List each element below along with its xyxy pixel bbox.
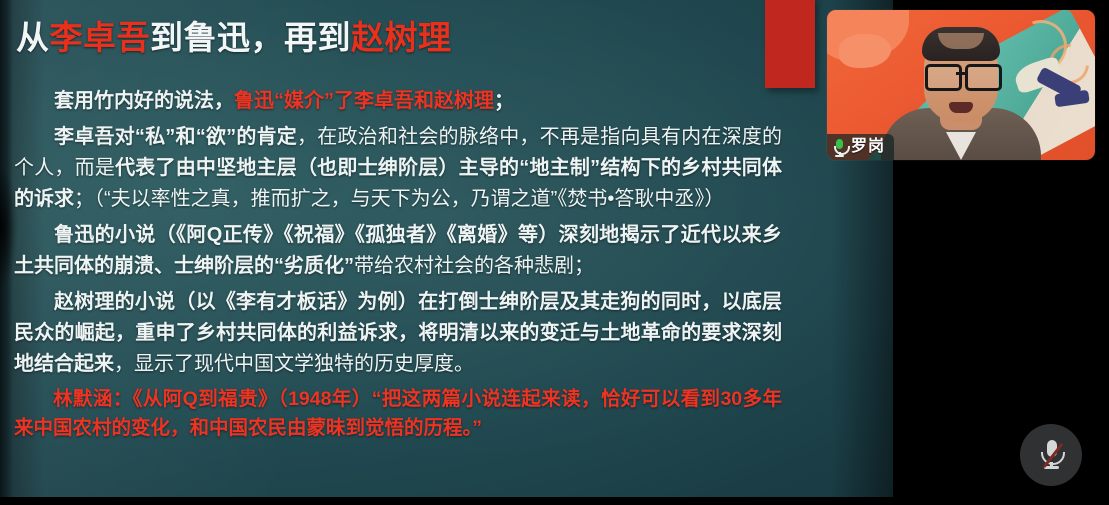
title-segment-highlight-2: 赵树理	[351, 19, 452, 56]
speaker-glasses-right	[965, 64, 1002, 91]
speaker-glasses-left	[925, 64, 962, 91]
participant-video-tile[interactable]: 罗岗	[827, 10, 1095, 160]
slide-bottom-letterbox	[0, 497, 893, 505]
mute-toggle-button[interactable]	[1020, 424, 1082, 486]
p1-tail-text: ；	[494, 90, 514, 112]
video-conference-screen: 从李卓吾到鲁迅，再到赵树理 套用竹内好的说法，鲁迅“媒介”了李卓吾和赵树理； 李…	[0, 0, 1109, 505]
slide-paragraph-1: 套用竹内好的说法，鲁迅“媒介”了李卓吾和赵树理；	[14, 86, 782, 117]
title-segment-1: 从	[16, 19, 50, 56]
participant-name-label: 罗岗	[851, 139, 885, 155]
participant-panel: 罗岗	[893, 0, 1109, 505]
p2-tail-text: ；（“夫以率性之真，推而扩之，与天下为公，乃谓之道”《焚书•答耿中丞》）	[74, 188, 724, 210]
p1-lead-text: 套用竹内好的说法，	[54, 90, 234, 112]
p3-tail-text: 带给农村社会的各种悲剧；	[354, 255, 594, 277]
microphone-on-icon	[833, 139, 846, 156]
p5-quote-text: 林默涵：《从阿Q到福贵》（1948年）“把这两篇小说连起来读，恰好可以看到30多…	[14, 388, 782, 439]
slide-title: 从李卓吾到鲁迅，再到赵树理	[16, 18, 776, 58]
slide-paragraph-3: 鲁迅的小说（《阿Q正传》《祝福》《孤独者》《离婚》等）深刻地揭示了近代以来乡土共…	[14, 220, 782, 282]
presentation-slide: 从李卓吾到鲁迅，再到赵树理 套用竹内好的说法，鲁迅“媒介”了李卓吾和赵树理； 李…	[0, 0, 893, 497]
microphone-muted-icon	[1040, 440, 1062, 470]
title-segment-highlight-1: 李卓吾	[50, 19, 151, 56]
p4-tail-text: ，显示了现代中国文学独特的历史厚度。	[114, 353, 474, 375]
slide-paragraph-2: 李卓吾对“私”和“欲”的肯定，在政治和社会的脉络中，不再是指向具有内在深度的个人…	[14, 122, 782, 215]
participant-name-badge: 罗岗	[827, 134, 894, 160]
p2-bold-text-1: 李卓吾对“私”和“欲”的肯定	[54, 126, 297, 148]
title-segment-2: 到鲁迅，再到	[150, 19, 351, 56]
slide-paragraph-4: 赵树理的小说（以《李有才板话》为例）在打倒士绅阶层及其走狗的同时，以底层民众的崛…	[14, 287, 782, 380]
p1-highlight-text: 鲁迅“媒介”了李卓吾和赵树理	[234, 90, 494, 112]
speaker-mouth	[949, 102, 973, 113]
shared-screen-region: 从李卓吾到鲁迅，再到赵树理 套用竹内好的说法，鲁迅“媒介”了李卓吾和赵树理； 李…	[0, 0, 893, 505]
slide-body: 套用竹内好的说法，鲁迅“媒介”了李卓吾和赵树理； 李卓吾对“私”和“欲”的肯定，…	[14, 86, 782, 448]
speaker-glasses-bridge	[956, 72, 966, 75]
speaker-hair	[922, 27, 1000, 61]
slide-paragraph-5-quote: 林默涵：《从阿Q到福贵》（1948年）“把这两篇小说连起来读，恰好可以看到30多…	[14, 385, 782, 443]
